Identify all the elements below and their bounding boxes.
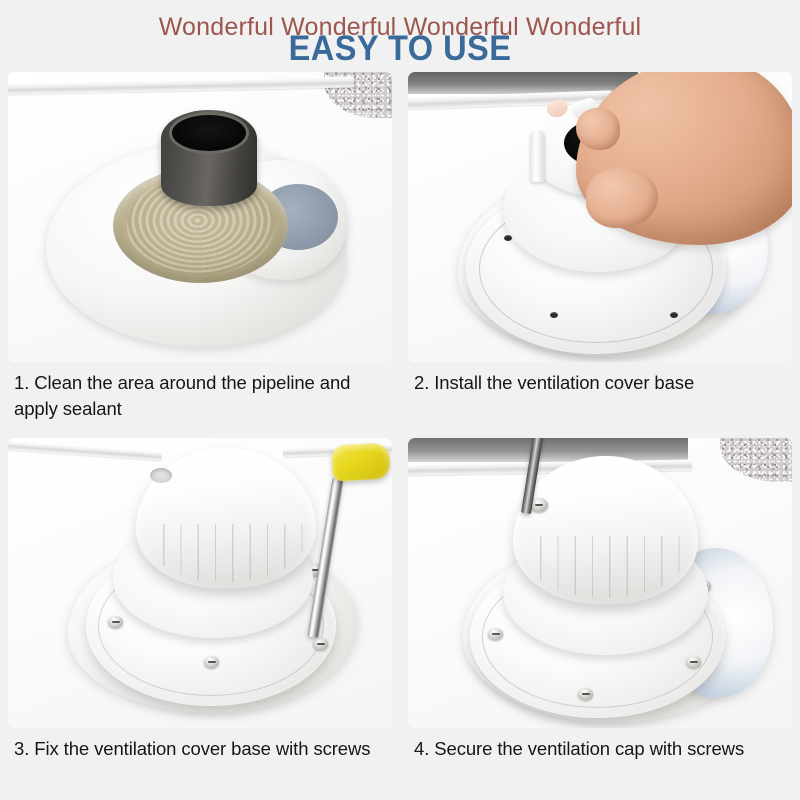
step-caption-3: 3. Fix the ventilation cover base with s… — [14, 736, 392, 762]
page-header: Wonderful Wonderful Wonderful Wonderful … — [0, 0, 800, 68]
screw-hole — [670, 312, 678, 318]
step-card-2: 2. Install the ventilation cover base — [400, 68, 800, 434]
cap-ribs — [147, 524, 305, 583]
cap-ribs — [524, 536, 687, 598]
screw — [488, 628, 503, 640]
scene-2 — [408, 72, 792, 362]
page-title: EASY TO USE — [28, 29, 772, 69]
screw-hole — [550, 312, 558, 318]
screw — [313, 638, 328, 650]
step-caption-2: 2. Install the ventilation cover base — [414, 370, 792, 396]
scene-4 — [408, 438, 792, 728]
pipe-opening — [169, 112, 249, 154]
step-card-1: 1. Clean the area around the pipeline an… — [0, 68, 400, 434]
step-image-3 — [8, 438, 392, 728]
steps-grid: 1. Clean the area around the pipeline an… — [0, 68, 800, 800]
cap-notch — [150, 468, 172, 483]
vent-nipple — [530, 130, 545, 182]
screw — [204, 656, 219, 668]
screw — [108, 616, 123, 628]
step-card-4: 4. Secure the ventilation cap with screw… — [400, 434, 800, 800]
scene-1 — [8, 72, 392, 362]
background-strip — [408, 438, 688, 462]
step-image-1 — [8, 72, 392, 362]
step-caption-4: 4. Secure the ventilation cap with screw… — [414, 736, 792, 762]
screw — [686, 656, 701, 668]
screw-hole — [504, 235, 512, 241]
screwdriver-handle — [331, 443, 391, 482]
thumb — [576, 108, 620, 150]
step-image-4 — [408, 438, 792, 728]
step-card-3: 3. Fix the ventilation cover base with s… — [0, 434, 400, 800]
screw — [578, 688, 593, 700]
step-image-2 — [408, 72, 792, 362]
step-caption-1: 1. Clean the area around the pipeline an… — [14, 370, 392, 422]
scene-3 — [8, 438, 392, 728]
